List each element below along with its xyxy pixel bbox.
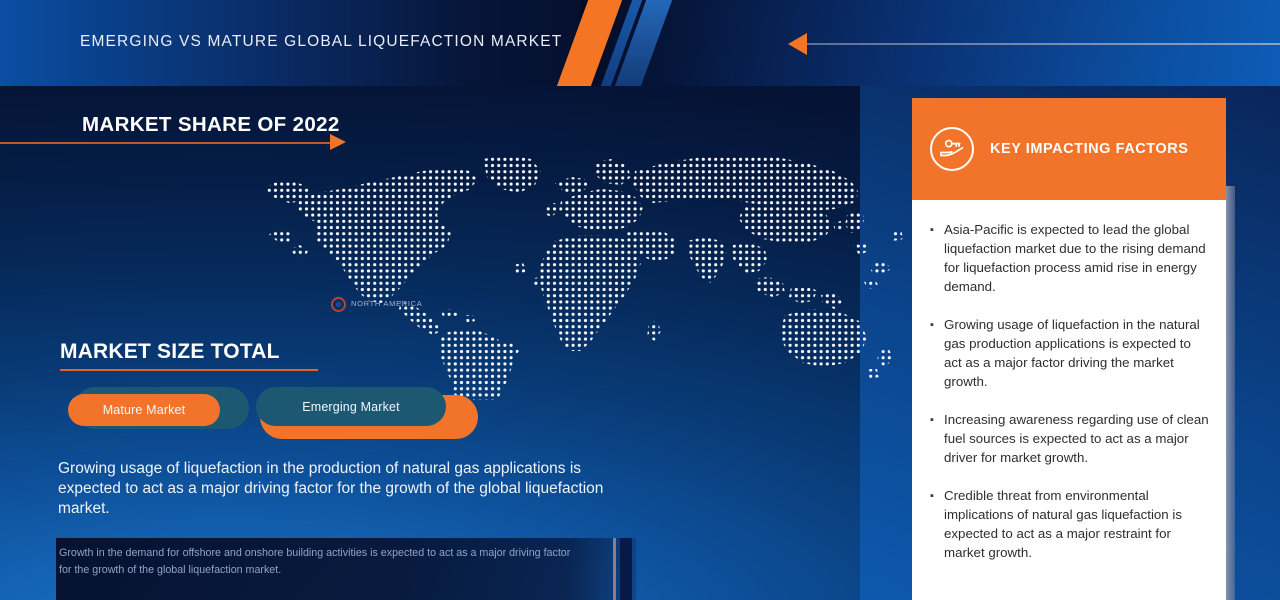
list-item-text: Growing usage of liquefaction in the nat…	[944, 315, 1210, 391]
infographic-canvas: MARKET SHARE OF 2022 NORTH AMERICA MARKE…	[0, 0, 1280, 600]
key-factors-list: ▪ Asia-Pacific is expected to lead the g…	[930, 220, 1210, 581]
left-arrow-icon	[788, 33, 807, 55]
market-share-title: MARKET SHARE OF 2022	[82, 113, 340, 137]
faded-note-text: Growth in the demand for offshore and on…	[59, 545, 575, 578]
location-target-icon	[331, 297, 346, 312]
list-item-text: Increasing awareness regarding use of cl…	[944, 410, 1210, 467]
world-map	[255, 145, 905, 400]
key-factors-panel: KEY IMPACTING FACTORS ▪ Asia-Pacific is …	[912, 98, 1226, 600]
bullet-icon: ▪	[930, 315, 944, 391]
hand-holding-key-icon	[930, 127, 974, 171]
list-item-text: Asia-Pacific is expected to lead the glo…	[944, 220, 1210, 296]
bullet-icon: ▪	[930, 220, 944, 296]
bullet-icon: ▪	[930, 486, 944, 562]
market-size-legend: Mature Market Emerging Market	[60, 387, 460, 439]
list-item-text: Credible threat from environmental impli…	[944, 486, 1210, 562]
legend-pill-mature-market[interactable]: Mature Market	[68, 394, 220, 426]
key-factors-panel-shadow	[1226, 186, 1235, 600]
faded-note-edge-block	[620, 538, 632, 600]
list-item: ▪ Credible threat from environmental imp…	[930, 486, 1210, 562]
list-item: ▪ Increasing awareness regarding use of …	[930, 410, 1210, 467]
list-item: ▪ Asia-Pacific is expected to lead the g…	[930, 220, 1210, 296]
header-arrow	[788, 33, 1280, 55]
list-item: ▪ Growing usage of liquefaction in the n…	[930, 315, 1210, 391]
map-marker-label: NORTH AMERICA	[351, 299, 422, 308]
key-factors-header: KEY IMPACTING FACTORS	[912, 98, 1226, 200]
key-factors-title: KEY IMPACTING FACTORS	[990, 141, 1188, 157]
faded-note-block: Growth in the demand for offshore and on…	[56, 538, 636, 600]
market-size-paragraph: Growing usage of liquefaction in the pro…	[58, 459, 614, 519]
market-size-underline	[60, 369, 318, 371]
page-title: EMERGING VS MATURE GLOBAL LIQUEFACTION M…	[80, 33, 562, 51]
faded-note-edge-bar	[613, 538, 616, 600]
legend-pill-emerging-market[interactable]: Emerging Market	[256, 387, 446, 426]
market-share-arrow-line	[0, 142, 332, 144]
bullet-icon: ▪	[930, 410, 944, 467]
market-size-title: MARKET SIZE TOTAL	[60, 340, 280, 364]
header-arrow-line	[807, 43, 1280, 45]
page-header: EMERGING VS MATURE GLOBAL LIQUEFACTION M…	[0, 0, 1280, 86]
